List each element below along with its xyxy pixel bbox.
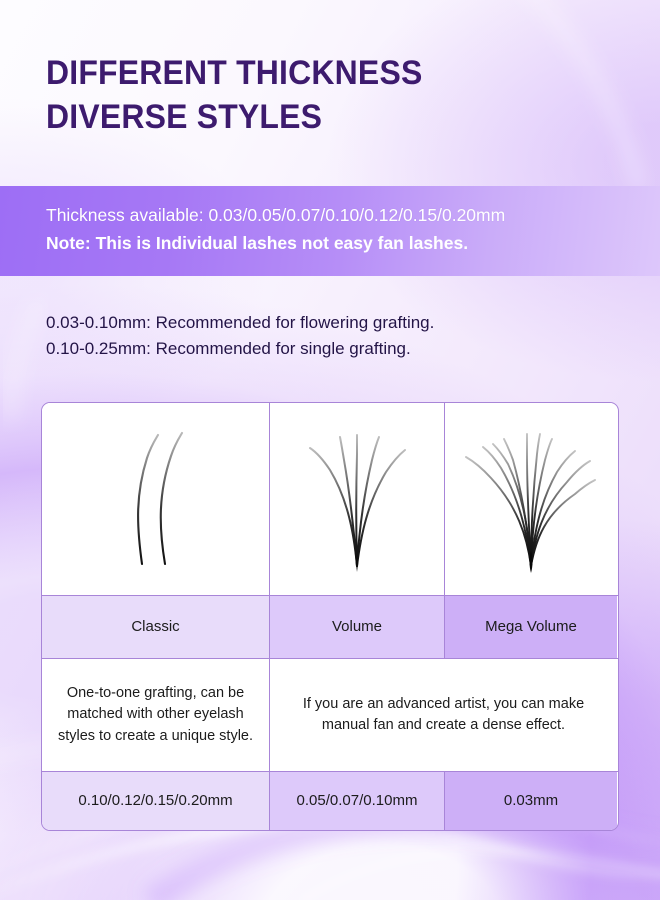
cell-classic-illustration: [42, 403, 269, 595]
table-row-descriptions: One-to-one grafting, can be matched with…: [42, 658, 618, 771]
sizes-text-mega-volume: 0.03mm: [504, 790, 558, 812]
mega-volume-fan-illustration: [461, 424, 601, 574]
thickness-available-text: Thickness available: 0.03/0.05/0.07/0.10…: [46, 205, 505, 226]
label-cell-classic: Classic: [42, 596, 269, 658]
cell-mega-volume-illustration: [444, 403, 617, 595]
banner-note-text: Note: This is Individual lashes not easy…: [46, 233, 468, 254]
label-cell-mega-volume: Mega Volume: [444, 596, 617, 658]
description-text-volume-mega: If you are an advanced artist, you can m…: [284, 694, 603, 736]
table-row-style-labels: Classic Volume Mega Volume: [42, 595, 618, 658]
description-text-classic: One-to-one grafting, can be matched with…: [56, 683, 255, 746]
thickness-banner: Thickness available: 0.03/0.05/0.07/0.10…: [0, 186, 660, 276]
page-title-line-1: DIFFERENT THICKNESS: [46, 52, 591, 96]
volume-fan-illustration: [292, 424, 422, 574]
table-row-thickness-sizes: 0.10/0.12/0.15/0.20mm 0.05/0.07/0.10mm 0…: [42, 771, 618, 830]
style-label-volume: Volume: [332, 616, 382, 638]
page-title: DIFFERENT THICKNESS DIVERSE STYLES: [46, 52, 591, 139]
style-label-mega-volume: Mega Volume: [485, 616, 577, 638]
classic-lashes-illustration: [101, 424, 211, 574]
page-title-line-2: DIVERSE STYLES: [46, 96, 591, 140]
recommendation-block: 0.03-0.10mm: Recommended for flowering g…: [46, 310, 434, 362]
recommendation-line-2: 0.10-0.25mm: Recommended for single graf…: [46, 336, 434, 362]
sizes-cell-mega-volume: 0.03mm: [444, 772, 617, 830]
sizes-cell-volume: 0.05/0.07/0.10mm: [269, 772, 444, 830]
recommendation-line-1: 0.03-0.10mm: Recommended for flowering g…: [46, 310, 434, 336]
label-cell-volume: Volume: [269, 596, 444, 658]
sizes-text-classic: 0.10/0.12/0.15/0.20mm: [78, 790, 232, 812]
lash-style-comparison-table: Classic Volume Mega Volume One-to-one gr…: [41, 402, 619, 831]
description-cell-classic: One-to-one grafting, can be matched with…: [42, 659, 269, 771]
cell-volume-illustration: [269, 403, 444, 595]
sizes-text-volume: 0.05/0.07/0.10mm: [297, 790, 418, 812]
description-cell-volume-mega: If you are an advanced artist, you can m…: [269, 659, 617, 771]
sizes-cell-classic: 0.10/0.12/0.15/0.20mm: [42, 772, 269, 830]
style-label-classic: Classic: [131, 616, 179, 638]
table-row-illustrations: [42, 403, 618, 595]
